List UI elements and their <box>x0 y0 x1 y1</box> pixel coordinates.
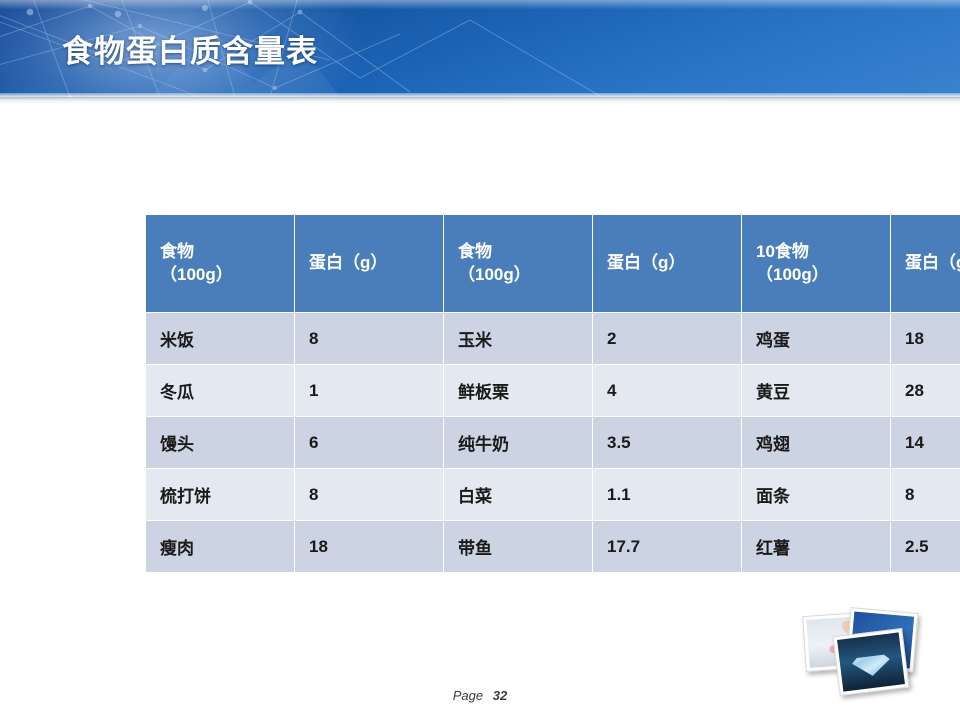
page-number: 32 <box>493 688 507 703</box>
column-header-food-1: 食物 （100g） <box>146 215 295 313</box>
cell-protein: 8 <box>891 469 960 521</box>
banner-top-sheen <box>0 0 960 9</box>
table-row: 梳打饼 8 白菜 1.1 面条 8 <box>146 469 960 521</box>
cell-protein: 2 <box>593 313 742 365</box>
table-row: 冬瓜 1 鲜板栗 4 黄豆 28 <box>146 365 960 417</box>
cell-food: 冬瓜 <box>146 365 295 417</box>
cell-food: 瘦肉 <box>146 521 295 573</box>
cell-food: 梳打饼 <box>146 469 295 521</box>
cell-protein: 8 <box>295 313 444 365</box>
table-header: 食物 （100g） 蛋白（g） 食物 （100g） 蛋白（g） 10食物 （10… <box>146 215 960 313</box>
cell-protein: 1.1 <box>593 469 742 521</box>
cell-food: 鸡蛋 <box>742 313 891 365</box>
column-header-food-2: 食物 （100g） <box>444 215 593 313</box>
column-header-line1: 蛋白（g） <box>309 253 387 272</box>
photo-frame-diamond <box>833 628 910 696</box>
slide-header-banner: 食物蛋白质含量表 <box>0 0 960 97</box>
column-header-food-3: 10食物 （100g） <box>742 215 891 313</box>
photo-stack-image <box>800 608 948 694</box>
cell-food: 鲜板栗 <box>444 365 593 417</box>
column-header-line1: 食物 <box>458 242 492 261</box>
cell-food: 黄豆 <box>742 365 891 417</box>
column-header-line1: 食物 <box>160 242 194 261</box>
column-header-line2: （100g） <box>160 264 280 286</box>
page-label: Page <box>453 688 483 703</box>
cell-food: 纯牛奶 <box>444 417 593 469</box>
table-row: 馒头 6 纯牛奶 3.5 鸡翅 14 <box>146 417 960 469</box>
column-header-protein-1: 蛋白（g） <box>295 215 444 313</box>
cell-food: 红薯 <box>742 521 891 573</box>
column-header-line2: （100g） <box>756 264 876 286</box>
page-title: 食物蛋白质含量表 <box>62 26 318 71</box>
table-body: 米饭 8 玉米 2 鸡蛋 18 冬瓜 1 鲜板栗 4 黄豆 28 馒头 6 纯牛… <box>146 313 960 573</box>
diamond-icon <box>851 648 892 678</box>
cell-food: 面条 <box>742 469 891 521</box>
cell-protein: 1 <box>295 365 444 417</box>
column-header-protein-2: 蛋白（g） <box>593 215 742 313</box>
cell-food: 带鱼 <box>444 521 593 573</box>
cell-protein: 18 <box>295 521 444 573</box>
column-header-line1: 10食物 <box>756 242 809 261</box>
cell-food: 鸡翅 <box>742 417 891 469</box>
cell-protein: 3.5 <box>593 417 742 469</box>
column-header-line1: 蛋白（g） <box>607 253 685 272</box>
cell-protein: 8 <box>295 469 444 521</box>
column-header-protein-3: 蛋白（g） <box>891 215 960 313</box>
cell-food: 白菜 <box>444 469 593 521</box>
cell-protein: 4 <box>593 365 742 417</box>
cell-protein: 17.7 <box>593 521 742 573</box>
protein-content-table: 食物 （100g） 蛋白（g） 食物 （100g） 蛋白（g） 10食物 （10… <box>145 214 960 573</box>
column-header-line2: （100g） <box>458 264 578 286</box>
cell-protein: 18 <box>891 313 960 365</box>
cell-protein: 6 <box>295 417 444 469</box>
cell-food: 米饭 <box>146 313 295 365</box>
banner-drop-shadow <box>0 97 960 104</box>
footer-page-indicator: Page 32 <box>0 688 960 703</box>
table-header-row: 食物 （100g） 蛋白（g） 食物 （100g） 蛋白（g） 10食物 （10… <box>146 215 960 313</box>
column-header-line1: 蛋白（g） <box>905 253 960 272</box>
table-row: 米饭 8 玉米 2 鸡蛋 18 <box>146 313 960 365</box>
cell-protein: 28 <box>891 365 960 417</box>
table-row: 瘦肉 18 带鱼 17.7 红薯 2.5 <box>146 521 960 573</box>
cell-food: 馒头 <box>146 417 295 469</box>
cell-food: 玉米 <box>444 313 593 365</box>
cell-protein: 14 <box>891 417 960 469</box>
cell-protein: 2.5 <box>891 521 960 573</box>
